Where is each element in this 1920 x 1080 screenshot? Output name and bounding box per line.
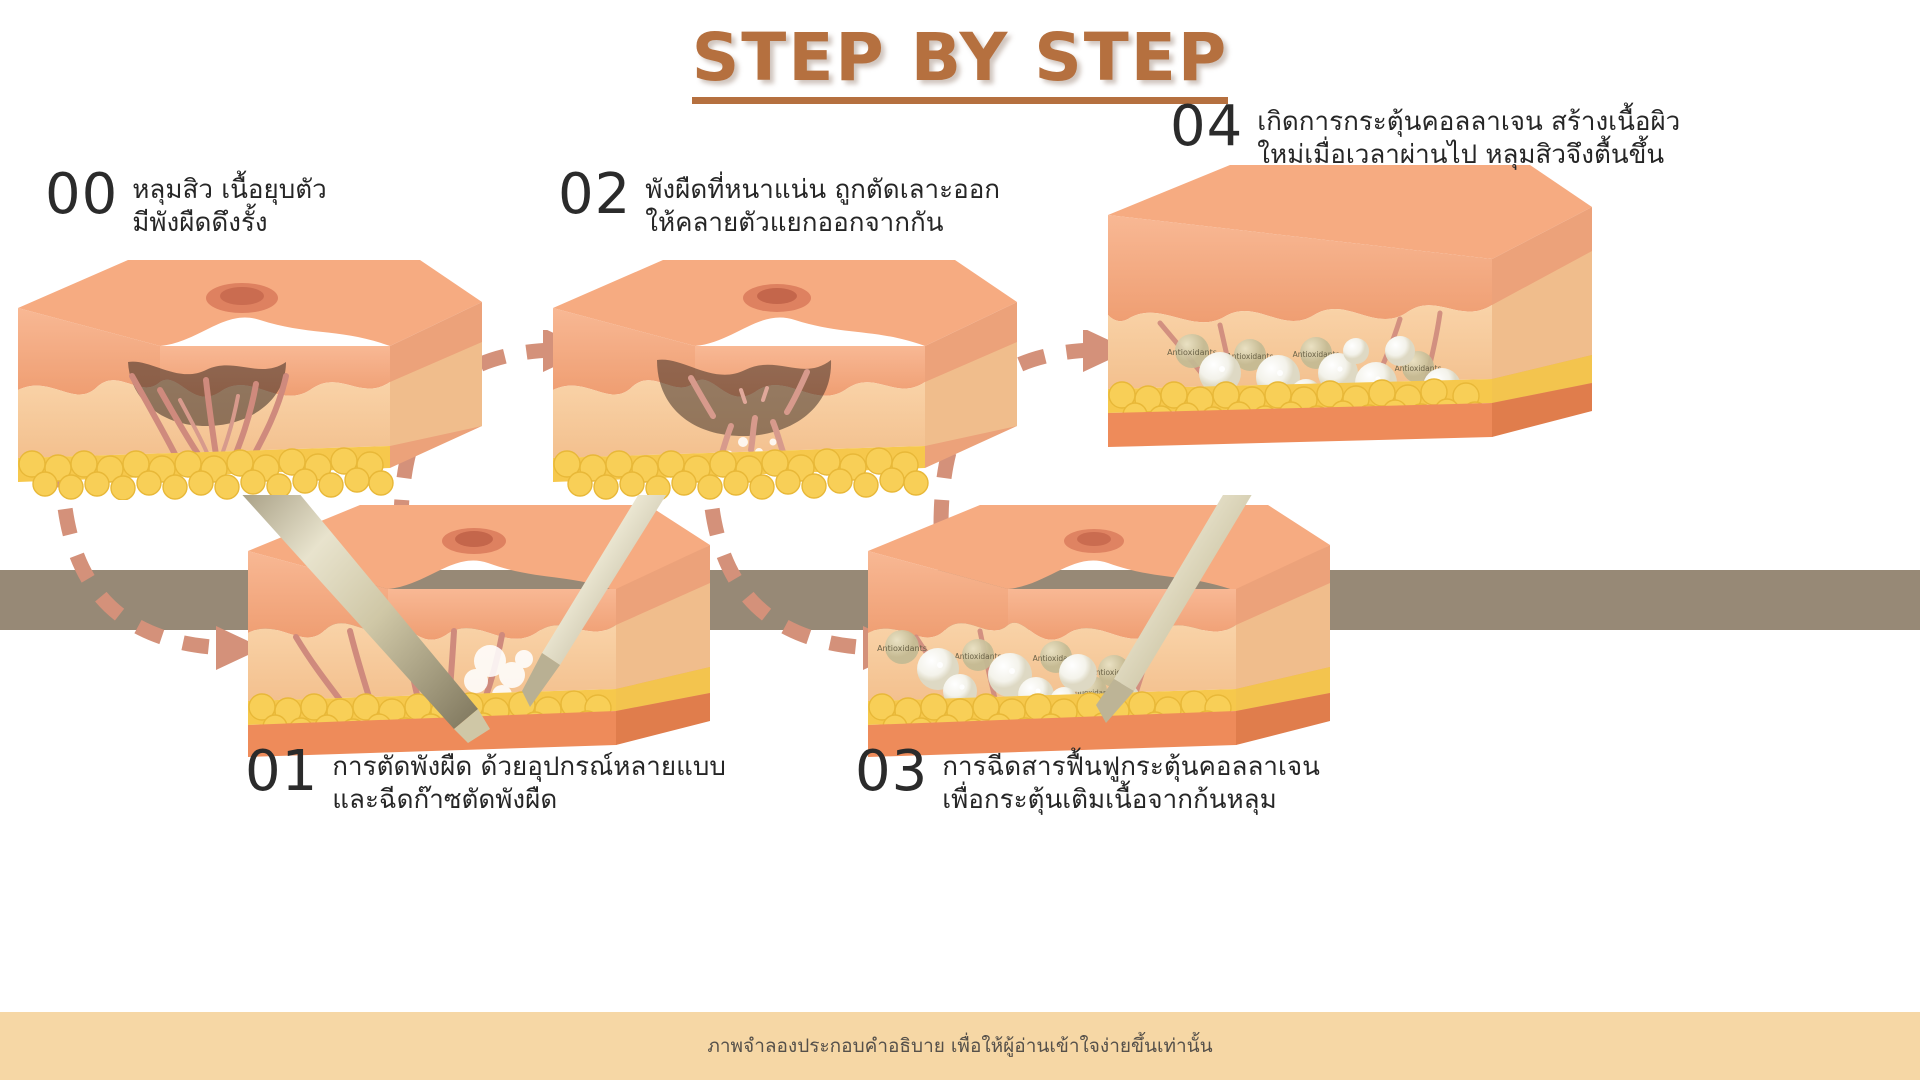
skin-block-02 [545, 250, 1025, 500]
step-number-04: 04 [1170, 100, 1243, 153]
step-caption-01: 01 การตัดพังผืด ด้วยอุปกรณ์หลายแบบ และฉี… [245, 745, 726, 817]
step-text-01: การตัดพังผืด ด้วยอุปกรณ์หลายแบบ และฉีดก๊… [332, 745, 726, 817]
step-caption-02: 02 พังผืดที่หนาแน่น ถูกตัดเลาะออก ให้คลา… [558, 168, 1000, 240]
title-bar: STEP BY STEP [0, 24, 1920, 104]
skin-block-01: CO₂CO₂ CO₂CO₂ [240, 495, 720, 775]
step-number-03: 03 [855, 745, 928, 798]
step-text-line: เกิดการกระตุ้นคอลลาเจน สร้างเนื้อผิว [1257, 106, 1680, 139]
footer-bar: ภาพจำลองประกอบคำอธิบาย เพื่อให้ผู้อ่านเข… [0, 1012, 1920, 1080]
step-text-line: พังผืดที่หนาแน่น ถูกตัดเลาะออก [645, 174, 1000, 207]
step-text-04: เกิดการกระตุ้นคอลลาเจน สร้างเนื้อผิว ใหม… [1257, 100, 1680, 172]
step-text-line: มีพังผืดดึงรั้ง [132, 207, 326, 240]
step-text-line: การฉีดสารฟื้นฟูกระตุ้นคอลลาเจน [942, 751, 1320, 784]
step-caption-04: 04 เกิดการกระตุ้นคอลลาเจน สร้างเนื้อผิว … [1170, 100, 1680, 172]
step-number-01: 01 [245, 745, 318, 798]
step-caption-00: 00 หลุมสิว เนื้อยุบตัว มีพังผืดดึงรั้ง [45, 168, 327, 240]
skin-block-00 [10, 250, 490, 500]
step-caption-03: 03 การฉีดสารฟื้นฟูกระตุ้นคอลลาเจน เพื่อก… [855, 745, 1320, 817]
step-text-line: หลุมสิว เนื้อยุบตัว [132, 174, 326, 207]
step-number-02: 02 [558, 168, 631, 221]
step-text-line: และฉีดก๊าซตัดพังผืด [332, 784, 726, 817]
step-text-03: การฉีดสารฟื้นฟูกระตุ้นคอลลาเจน เพื่อกระต… [942, 745, 1320, 817]
step-number-00: 00 [45, 168, 118, 221]
skin-block-04: Antioxidants Antioxidants Antioxidants A… [1100, 155, 1600, 455]
page-title: STEP BY STEP [692, 24, 1228, 104]
skin-block-03: Antioxidants Antioxidants Antioxidants A… [860, 495, 1340, 775]
step-text-line: ใหม่เมื่อเวลาผ่านไป หลุมสิวจึงตื้นขึ้น [1257, 139, 1680, 172]
step-text-line: การตัดพังผืด ด้วยอุปกรณ์หลายแบบ [332, 751, 726, 784]
svg-text:Antioxidants: Antioxidants [877, 644, 927, 653]
step-text-02: พังผืดที่หนาแน่น ถูกตัดเลาะออก ให้คลายตั… [645, 168, 1000, 240]
step-text-line: ให้คลายตัวแยกออกจากกัน [645, 207, 1000, 240]
step-text-line: เพื่อกระตุ้นเติมเนื้อจากก้นหลุม [942, 784, 1320, 817]
step-text-00: หลุมสิว เนื้อยุบตัว มีพังผืดดึงรั้ง [132, 168, 326, 240]
footer-disclaimer: ภาพจำลองประกอบคำอธิบาย เพื่อให้ผู้อ่านเข… [707, 1031, 1212, 1061]
